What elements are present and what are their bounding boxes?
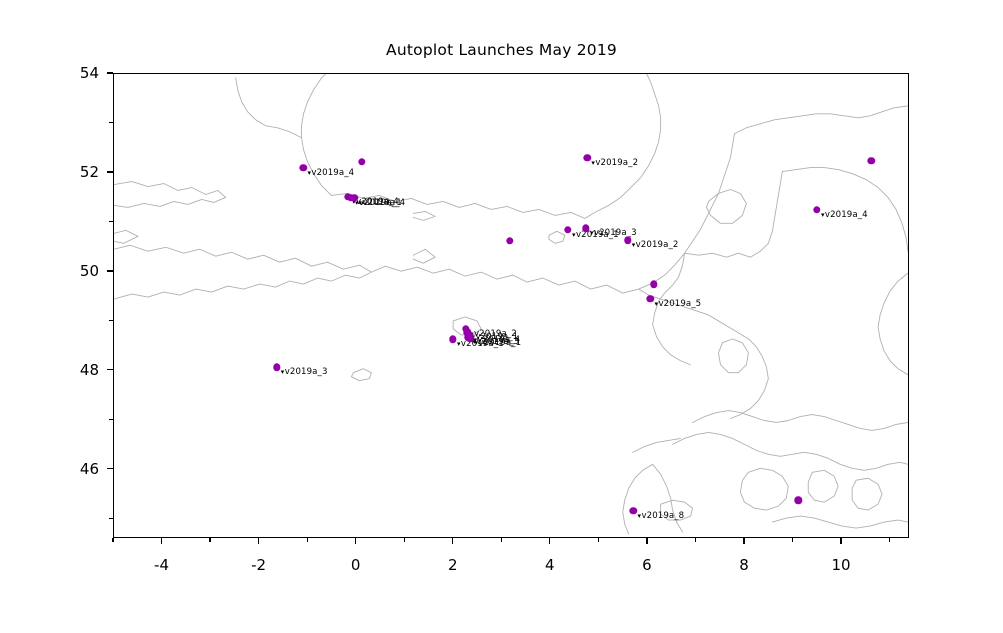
x-tick-label: -4 bbox=[154, 556, 169, 574]
x-tick-major bbox=[840, 538, 841, 544]
x-tick-minor bbox=[598, 538, 599, 542]
data-point-label-text: v2019a_8 bbox=[641, 511, 684, 521]
x-tick-label: 8 bbox=[739, 556, 749, 574]
x-tick-major bbox=[355, 538, 356, 544]
y-tick-major bbox=[107, 72, 113, 73]
data-point-label: ▾v2019a_5 bbox=[655, 299, 702, 309]
x-tick-major bbox=[452, 538, 453, 544]
data-point-label-text: v2019a_3 bbox=[285, 367, 328, 377]
x-tick-major bbox=[646, 538, 647, 544]
y-tick-label: 48 bbox=[80, 361, 99, 379]
y-tick-minor bbox=[109, 122, 113, 123]
data-point-label: ▾v2019a_8 bbox=[638, 511, 685, 521]
x-tick-minor bbox=[112, 538, 113, 542]
data-point-label: ▾v2019a_2 bbox=[591, 158, 638, 168]
y-tick-label: 50 bbox=[80, 262, 99, 280]
x-tick-minor bbox=[404, 538, 405, 542]
y-tick-major bbox=[107, 369, 113, 370]
data-point-label-text: v2019a_4 bbox=[311, 168, 354, 178]
y-tick-label: 54 bbox=[80, 64, 99, 82]
x-tick-major bbox=[743, 538, 744, 544]
x-tick-major bbox=[258, 538, 259, 544]
data-point-label: ▾v2019a_3 bbox=[281, 367, 328, 377]
y-tick-minor bbox=[109, 419, 113, 420]
y-tick-major bbox=[107, 270, 113, 271]
x-tick-minor bbox=[695, 538, 696, 542]
x-tick-label: 6 bbox=[642, 556, 652, 574]
data-point-label: ▾v2019a_4 bbox=[307, 168, 354, 178]
y-tick-major bbox=[107, 171, 113, 172]
data-point-label-text: v2019a_5 bbox=[658, 299, 701, 309]
data-point-label-text: v2019a_3 bbox=[594, 228, 637, 238]
x-tick-label: 10 bbox=[832, 556, 851, 574]
y-tick-major bbox=[107, 468, 113, 469]
data-point-label-text: v2019a_4 bbox=[362, 198, 405, 208]
data-point-label: ▾v2019a_4 bbox=[821, 210, 868, 220]
x-tick-minor bbox=[792, 538, 793, 542]
data-point-label-text: v2019a_1 bbox=[478, 338, 521, 348]
x-tick-label: 2 bbox=[448, 556, 458, 574]
x-tick-minor bbox=[889, 538, 890, 542]
data-point-label: ▾v2019a_1 bbox=[474, 338, 521, 348]
data-point-label-text: v2019a_4 bbox=[825, 210, 868, 220]
map-coastlines bbox=[114, 74, 908, 537]
x-tick-major bbox=[161, 538, 162, 544]
y-tick-minor bbox=[109, 320, 113, 321]
y-tick-minor bbox=[109, 221, 113, 222]
figure: Autoplot Launches May 2019 bbox=[0, 0, 1003, 633]
y-tick-label: 46 bbox=[80, 460, 99, 478]
x-tick-label: 0 bbox=[351, 556, 361, 574]
x-tick-major bbox=[549, 538, 550, 544]
x-tick-minor bbox=[501, 538, 502, 542]
chart-title: Autoplot Launches May 2019 bbox=[0, 41, 1003, 59]
x-tick-label: 4 bbox=[545, 556, 555, 574]
x-tick-minor bbox=[307, 538, 308, 542]
data-point-label-text: v2019a_2 bbox=[595, 158, 638, 168]
x-tick-minor bbox=[209, 538, 210, 542]
y-tick-label: 52 bbox=[80, 163, 99, 181]
map-axes[interactable]: ▾v2019a_4▾v2019a_4▾v2019a_1▾v2019a_4▾v20… bbox=[113, 73, 909, 538]
x-tick-label: -2 bbox=[251, 556, 266, 574]
data-point-label: ▾v2019a_2 bbox=[632, 240, 679, 250]
data-point-label: ▾v2019a_4 bbox=[358, 198, 405, 208]
y-tick-minor bbox=[109, 518, 113, 519]
data-point-label-text: v2019a_2 bbox=[636, 240, 679, 250]
